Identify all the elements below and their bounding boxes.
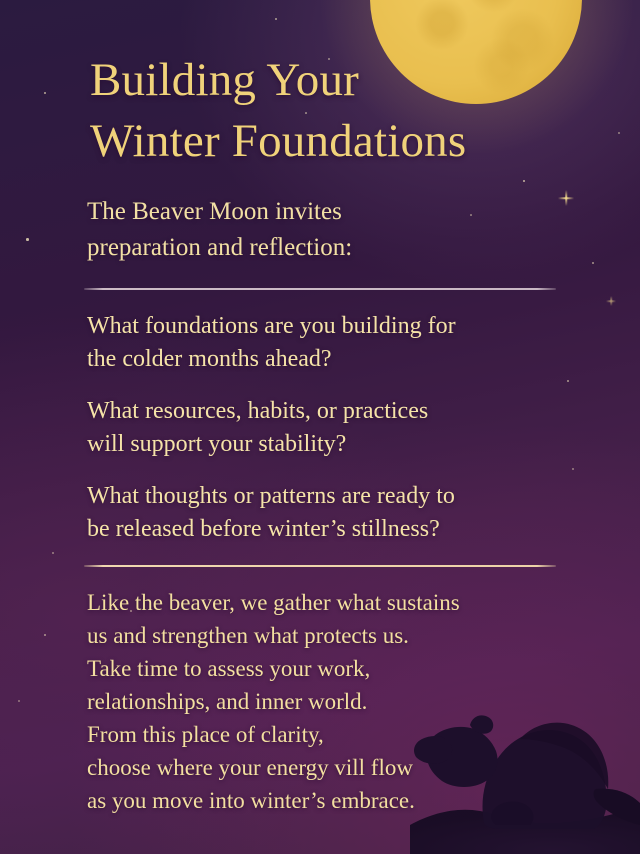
- subtitle-line-2: preparation and reflection:: [87, 230, 556, 266]
- closing-line: Like the beaver, we gather what sustains: [87, 586, 556, 619]
- closing-line: Take time to assess your work,: [87, 652, 556, 685]
- closing-line: relationships, and inner world.: [87, 685, 556, 718]
- poster-content: Building Your Winter Foundations The Bea…: [0, 0, 640, 817]
- question-line: the colder months ahead?: [87, 343, 556, 376]
- question-line: be released before winter’s stillness?: [87, 513, 556, 546]
- moon-ritual-poster: Building Your Winter Foundations The Bea…: [0, 0, 640, 854]
- subtitle: The Beaver Moon invites preparation and …: [84, 172, 556, 266]
- reflection-question: What foundations are you building for th…: [87, 310, 556, 376]
- question-line: What foundations are you building for: [87, 310, 556, 343]
- title-line-1: Building Your: [90, 50, 556, 111]
- closing-line: From this place of clarity,: [87, 718, 556, 751]
- closing-line: choose where your energy vill flow: [87, 751, 556, 784]
- reflection-questions-list: What foundations are you building for th…: [84, 290, 556, 546]
- subtitle-line-1: The Beaver Moon invites: [87, 194, 556, 230]
- question-line: What thoughts or patterns are ready to: [87, 480, 556, 513]
- question-line: will support your stability?: [87, 428, 556, 461]
- closing-line: us and strengthen what protects us.: [87, 619, 556, 652]
- closing-passage: Like the beaver, we gather what sustains…: [84, 567, 556, 817]
- page-title: Building Your Winter Foundations: [84, 0, 556, 172]
- title-line-2: Winter Foundations: [90, 111, 556, 172]
- reflection-question: What resources, habits, or practices wil…: [87, 395, 556, 461]
- question-line: What resources, habits, or practices: [87, 395, 556, 428]
- closing-line: as you move into winter’s embrace.: [87, 784, 556, 817]
- reflection-question: What thoughts or patterns are ready to b…: [87, 480, 556, 546]
